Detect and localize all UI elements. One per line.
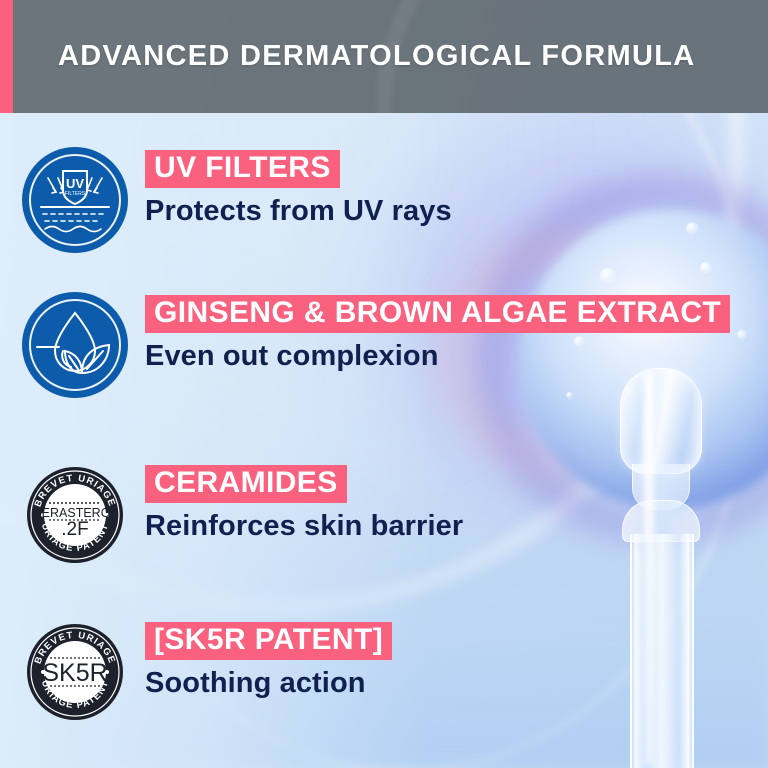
feature-text-uv-filters: UV FILTERS Protects from UV rays <box>145 150 452 228</box>
feature-subtitle: Even out complexion <box>145 340 730 373</box>
feature-title-badge: GINSENG & BROWN ALGAE EXTRACT <box>145 295 730 333</box>
feature-title-badge: CERAMIDES <box>145 465 347 503</box>
cerasterol-patent-badge-icon: BREVET URIAGE URIAGE PATENT CERASTEROL .… <box>25 465 125 565</box>
uv-shield-icon: UV FILTERS <box>25 150 125 250</box>
feature-row-ceramides: BREVET URIAGE URIAGE PATENT CERASTEROL .… <box>0 465 768 605</box>
sk5r-patent-badge-icon: BREVET URIAGE URIAGE PATENT SK5R <box>25 622 125 722</box>
svg-text:FILTERS: FILTERS <box>65 191 86 197</box>
feature-row-ginseng-algae: GINSENG & BROWN ALGAE EXTRACT Even out c… <box>0 295 768 435</box>
feature-title-badge: UV FILTERS <box>145 150 340 188</box>
droplet-leaf-icon <box>25 295 125 395</box>
svg-text:.2F: .2F <box>61 519 88 540</box>
page-title: ADVANCED DERMATOLOGICAL FORMULA <box>58 40 695 73</box>
feature-subtitle: Soothing action <box>145 667 392 700</box>
feature-text-ceramides: CERAMIDES Reinforces skin barrier <box>145 465 463 543</box>
feature-row-uv-filters: UV FILTERS UV FILTERS Protects from UV r… <box>0 150 768 290</box>
feature-title-badge: [SK5R PATENT] <box>145 622 392 660</box>
feature-text-sk5r: [SK5R PATENT] Soothing action <box>145 622 392 700</box>
feature-subtitle: Protects from UV rays <box>145 195 452 228</box>
header-accent-bar <box>0 0 13 113</box>
svg-text:SK5R: SK5R <box>42 659 107 687</box>
header-bar: ADVANCED DERMATOLOGICAL FORMULA <box>0 0 768 113</box>
feature-subtitle: Reinforces skin barrier <box>145 510 463 543</box>
svg-text:UV: UV <box>66 176 84 191</box>
product-feature-poster: ADVANCED DERMATOLOGICAL FORMULA <box>0 0 768 768</box>
feature-row-sk5r: BREVET URIAGE URIAGE PATENT SK5R [SK5R P… <box>0 622 768 762</box>
svg-text:CERASTEROL: CERASTEROL <box>33 506 118 520</box>
feature-text-ginseng-algae: GINSENG & BROWN ALGAE EXTRACT Even out c… <box>145 295 730 373</box>
